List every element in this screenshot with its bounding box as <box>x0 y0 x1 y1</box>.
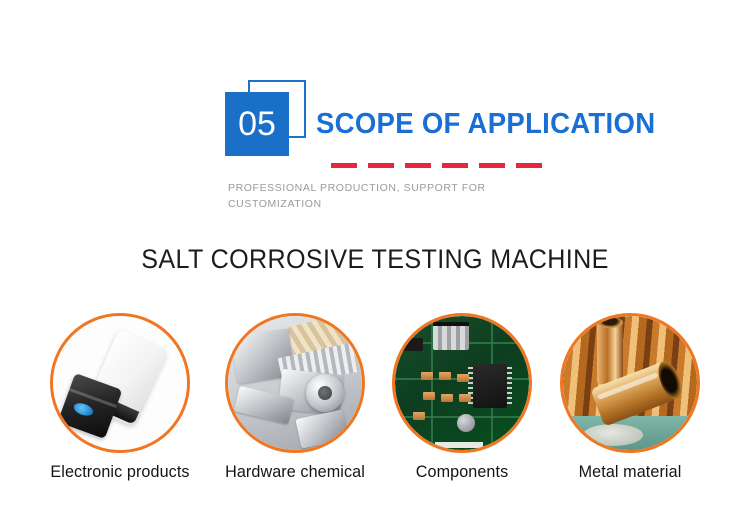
card-caption: Metal material <box>554 462 706 482</box>
application-card: Metal material <box>550 313 710 482</box>
application-card: Components <box>382 313 542 482</box>
divider-dash <box>368 163 394 168</box>
vertical-copper-tube <box>597 322 623 384</box>
metal-part-shape <box>295 409 348 448</box>
divider-dash <box>405 163 431 168</box>
metal-material-image <box>560 313 700 453</box>
badge-solid-square: 05 <box>225 92 289 156</box>
divider-dash <box>516 163 542 168</box>
metal-ring-shape <box>306 374 344 412</box>
application-card-row: Electronic products Hardware chem <box>0 313 750 513</box>
application-card: Electronic products <box>40 313 200 482</box>
application-card: Hardware chemical <box>215 313 375 482</box>
art-hardware <box>228 316 362 450</box>
divider-dash <box>331 163 357 168</box>
section-title: SCOPE OF APPLICATION <box>316 108 655 141</box>
art-circuit-board <box>395 316 529 450</box>
art-electronics <box>53 316 187 450</box>
red-dashed-divider <box>331 163 542 168</box>
card-caption: Components <box>386 462 538 482</box>
resistor-shape <box>421 372 433 380</box>
resistor-shape <box>459 394 471 402</box>
resistor-shape <box>439 372 451 380</box>
resistor-shape <box>441 394 453 402</box>
badge-number-text: 05 <box>225 92 289 156</box>
card-caption: Hardware chemical <box>219 462 371 482</box>
section-number-badge: 05 <box>225 80 315 165</box>
small-chip-shape <box>403 338 423 351</box>
banner-page: 05 SCOPE OF APPLICATION PROFESSIONAL PRO… <box>0 0 750 526</box>
components-image <box>392 313 532 453</box>
metal-disc-shape <box>583 424 643 446</box>
art-copper-rolls <box>563 316 697 450</box>
resistor-shape <box>457 374 469 382</box>
blue-indicator <box>72 401 95 418</box>
resistor-shape <box>413 412 425 420</box>
header-section: 05 SCOPE OF APPLICATION PROFESSIONAL PRO… <box>0 0 750 230</box>
hardware-chemical-image <box>225 313 365 453</box>
ic-chip-shape <box>473 364 507 408</box>
electronic-products-image <box>50 313 190 453</box>
board-edge-strip <box>435 442 483 448</box>
header-subtitle: PROFESSIONAL PRODUCTION, SUPPORT FOR CUS… <box>228 180 558 212</box>
page-title: SALT CORROSIVE TESTING MACHINE <box>26 244 724 275</box>
card-caption: Electronic products <box>44 462 196 482</box>
resistor-shape <box>423 392 435 400</box>
divider-dash <box>442 163 468 168</box>
round-component-shape <box>457 414 475 432</box>
divider-dash <box>479 163 505 168</box>
capacitor-bank-shape <box>433 322 469 350</box>
